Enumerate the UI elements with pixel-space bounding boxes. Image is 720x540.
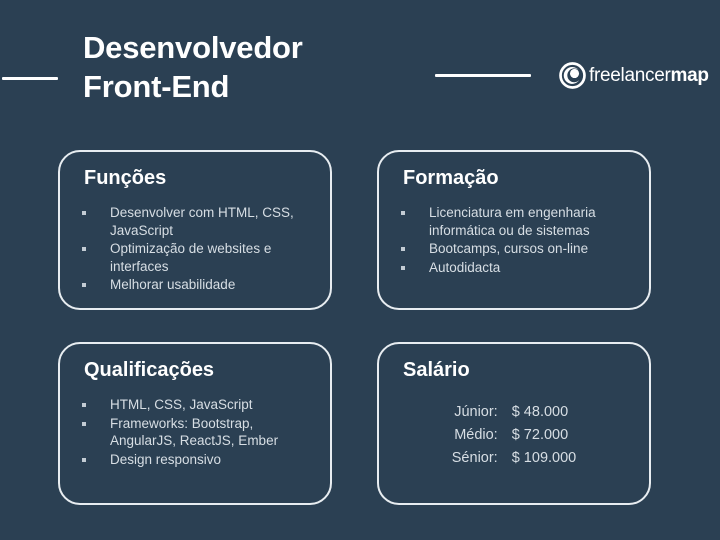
freelancermap-logo[interactable]: freelancermap bbox=[559, 60, 709, 90]
list-item-text: Bootcamps, cursos on-line bbox=[429, 241, 588, 256]
list-item: Design responsivo bbox=[78, 451, 318, 469]
list-item: Licenciatura em engenharia informática o… bbox=[397, 204, 637, 239]
bullet-square-icon bbox=[82, 458, 86, 462]
list-item: HTML, CSS, JavaScript bbox=[78, 396, 318, 414]
list-item-text: Licenciatura em engenharia informática o… bbox=[429, 205, 596, 238]
salary-table: Júnior: $ 48.000 Médio: $ 72.000 Sénior:… bbox=[452, 402, 576, 471]
header: Desenvolvedor Front-End freelancermap bbox=[0, 0, 720, 140]
page-title: Desenvolvedor Front-End bbox=[83, 28, 423, 106]
salary-value-senior: $ 109.000 bbox=[512, 448, 577, 471]
list-item-text: Optimização de websites e interfaces bbox=[110, 241, 271, 274]
card-qualificacoes: Qualificações HTML, CSS, JavaScript Fram… bbox=[58, 342, 332, 505]
bullet-list-qualificacoes: HTML, CSS, JavaScript Frameworks: Bootst… bbox=[78, 396, 318, 469]
salary-label-senior: Sénior: bbox=[452, 448, 512, 471]
card-funcoes: Funções Desenvolver com HTML, CSS, JavaS… bbox=[58, 150, 332, 310]
bullet-square-icon bbox=[82, 422, 86, 426]
card-salario: Salário Júnior: $ 48.000 Médio: $ 72.000… bbox=[377, 342, 651, 505]
list-item-text: Autodidacta bbox=[429, 260, 500, 275]
salary-value-medio: $ 72.000 bbox=[512, 425, 577, 448]
decorative-rule-right bbox=[435, 74, 531, 77]
table-row: Médio: $ 72.000 bbox=[452, 425, 576, 448]
list-item: Desenvolver com HTML, CSS, JavaScript bbox=[78, 204, 318, 239]
list-item-text: Frameworks: Bootstrap, AngularJS, ReactJ… bbox=[110, 416, 278, 449]
list-item-text: HTML, CSS, JavaScript bbox=[110, 397, 253, 412]
bullet-square-icon bbox=[401, 247, 405, 251]
bullet-square-icon bbox=[82, 283, 86, 287]
table-row: Sénior: $ 109.000 bbox=[452, 448, 576, 471]
bullet-square-icon bbox=[401, 211, 405, 215]
bullet-list-funcoes: Desenvolver com HTML, CSS, JavaScript Op… bbox=[78, 204, 318, 295]
list-item: Melhorar usabilidade bbox=[78, 276, 318, 294]
bullet-square-icon bbox=[82, 247, 86, 251]
list-item: Autodidacta bbox=[397, 259, 637, 277]
card-title-qualificacoes: Qualificações bbox=[84, 358, 214, 382]
page-title-line-2: Front-End bbox=[83, 67, 423, 106]
salary-value-junior: $ 48.000 bbox=[512, 402, 577, 425]
bullet-square-icon bbox=[82, 211, 86, 215]
list-item: Optimização de websites e interfaces bbox=[78, 240, 318, 275]
bullet-square-icon bbox=[82, 403, 86, 407]
decorative-rule-left bbox=[2, 77, 58, 80]
bullet-list-formacao: Licenciatura em engenharia informática o… bbox=[397, 204, 637, 277]
freelancermap-swirl-icon bbox=[559, 62, 586, 89]
salary-label-junior: Júnior: bbox=[452, 402, 512, 425]
list-item-text: Design responsivo bbox=[110, 452, 221, 467]
salary-label-medio: Médio: bbox=[452, 425, 512, 448]
logo-wordmark: freelancermap bbox=[589, 66, 709, 85]
bullet-square-icon bbox=[401, 266, 405, 270]
card-formacao: Formação Licenciatura em engenharia info… bbox=[377, 150, 651, 310]
card-title-salario: Salário bbox=[403, 358, 470, 382]
list-item: Bootcamps, cursos on-line bbox=[397, 240, 637, 258]
logo-word-map: map bbox=[671, 65, 709, 86]
card-title-formacao: Formação bbox=[403, 166, 499, 190]
logo-word-freelancer: freelancer bbox=[589, 65, 671, 86]
card-title-funcoes: Funções bbox=[84, 166, 166, 190]
list-item-text: Desenvolver com HTML, CSS, JavaScript bbox=[110, 205, 294, 238]
page-title-line-1: Desenvolvedor bbox=[83, 28, 423, 67]
list-item-text: Melhorar usabilidade bbox=[110, 277, 235, 292]
list-item: Frameworks: Bootstrap, AngularJS, ReactJ… bbox=[78, 415, 318, 450]
table-row: Júnior: $ 48.000 bbox=[452, 402, 576, 425]
